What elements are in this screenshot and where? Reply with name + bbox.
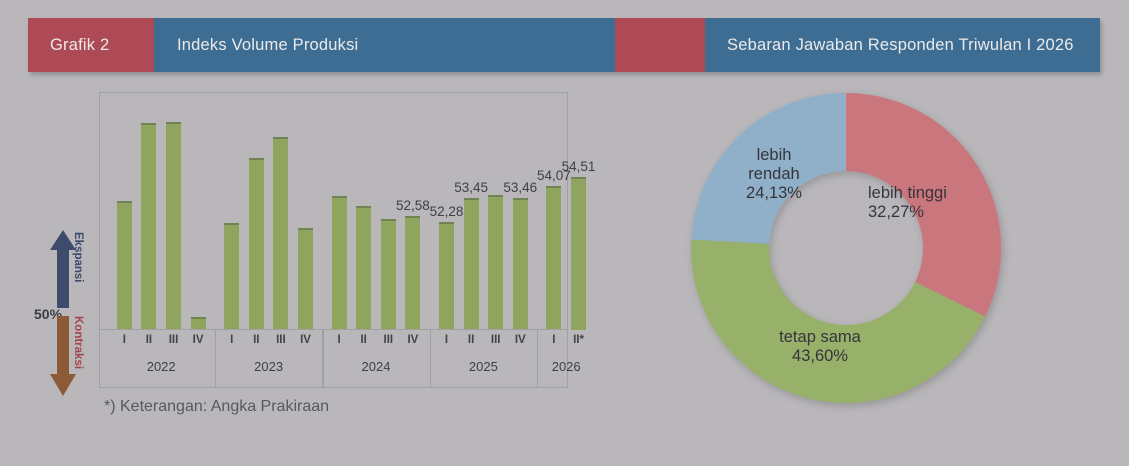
x-tick-quarter: II [253,334,259,346]
slice-label-lebih-tinggi: lebih tinggi 32,27% [868,184,1008,222]
x-axis-year-2025: 2025 [469,359,498,374]
bar-2024-ii [356,206,371,330]
x-axis-year-2026: 2026 [552,359,581,374]
donut-chart: lebih tinggi 32,27% tetap sama 43,60% le… [686,88,1006,408]
x-tick-quarter: II [146,334,152,346]
slice-name-tetap-sama: tetap sama [730,328,910,347]
x-tick-quarter: IV [407,334,418,346]
year-group-separator [537,330,538,387]
bar-value-label: 53,45 [454,180,488,195]
x-tick-quarter: III [384,334,394,346]
banner-divider-red [615,18,705,72]
bar-2025-iii [488,195,503,330]
bar-2024-iv [405,216,420,330]
bar-value-label: 54,51 [562,159,596,174]
bar-2026-ii- [571,177,586,330]
banner-spacer-blue [582,18,615,72]
slice-value-tetap-sama: 43,60% [730,347,910,366]
x-tick-quarter: IV [300,334,311,346]
bar-2023-i [224,223,239,330]
x-tick-quarter: IV [193,334,204,346]
x-tick-quarter: I [123,334,126,346]
slice-name-lebih-rendah-2: rendah [714,165,834,184]
expansion-label: Ekspansi [72,232,84,283]
bar-2025-iv [513,198,528,330]
slice-value-lebih-tinggi: 32,27% [868,203,1008,222]
year-group-separator [430,330,431,387]
x-tick-quarter: I [552,334,555,346]
x-tick-quarter: III [276,334,286,346]
slice-label-tetap-sama: tetap sama 43,60% [730,328,910,366]
bar-2024-i [332,196,347,330]
x-tick-quarter: II [468,334,474,346]
bar-2026-i [546,186,561,330]
bar-2025-ii [464,198,479,330]
x-tick-quarter: II [360,334,366,346]
x-tick-quarter: III [169,334,179,346]
bar-2025-i [439,222,454,330]
bar-2023-iii [273,137,288,330]
x-tick-quarter: I [445,334,448,346]
bar-2022-iii [166,122,181,330]
chart-number-label: Grafik 2 [50,36,109,55]
slice-name-lebih-rendah-1: lebih [714,146,834,165]
bar-2022-i [117,201,132,330]
year-group-separator [322,330,323,387]
x-tick-quarter: I [230,334,233,346]
x-tick-quarter: III [491,334,501,346]
bar-value-label: 53,46 [503,180,537,195]
expansion-contraction-legend: Ekspansi 50% Kontraksi [38,230,94,398]
slice-value-lebih-rendah: 24,13% [714,184,834,203]
contraction-label: Kontraksi [72,316,84,369]
right-chart-title: Sebaran Jawaban Responden Triwulan I 202… [727,36,1074,55]
bar-2022-ii [141,123,156,330]
footnote: *) Keterangan: Angka Prakiraan [104,398,329,416]
x-axis: IIIIIIIVIIIIIIIVIIIIIIIVIIIIIIIVIII*2022… [100,329,567,387]
bar-2023-ii [249,158,264,330]
chart-number-badge: Grafik 2 [28,18,154,72]
header-banner: Grafik 2 Indeks Volume Produksi Sebaran … [28,18,1100,72]
bar-2024-iii [381,219,396,330]
x-axis-year-2024: 2024 [362,359,391,374]
slice-label-lebih-rendah: lebih rendah 24,13% [714,146,834,203]
bar-2022-iv [191,317,206,330]
bar-chart-plot: 52,5852,2853,4553,4654,0754,51 IIIIIIIVI… [99,92,568,388]
x-tick-quarter: I [337,334,340,346]
bar-2023-iv [298,228,313,330]
bar-value-label: 52,28 [430,204,464,219]
x-tick-quarter: IV [515,334,526,346]
x-tick-quarter: II* [573,334,584,346]
left-chart-title: Indeks Volume Produksi [177,36,358,55]
x-axis-year-2023: 2023 [254,359,283,374]
year-group-separator [215,330,216,387]
bars-container: 52,5852,2853,4553,4654,0754,51 [100,93,567,330]
x-axis-year-2022: 2022 [147,359,176,374]
right-chart-title-bar: Sebaran Jawaban Responden Triwulan I 202… [705,18,1100,72]
left-chart-title-bar: Indeks Volume Produksi [154,18,582,72]
bar-value-label: 52,58 [396,198,430,213]
slice-name-lebih-tinggi: lebih tinggi [868,184,1008,203]
